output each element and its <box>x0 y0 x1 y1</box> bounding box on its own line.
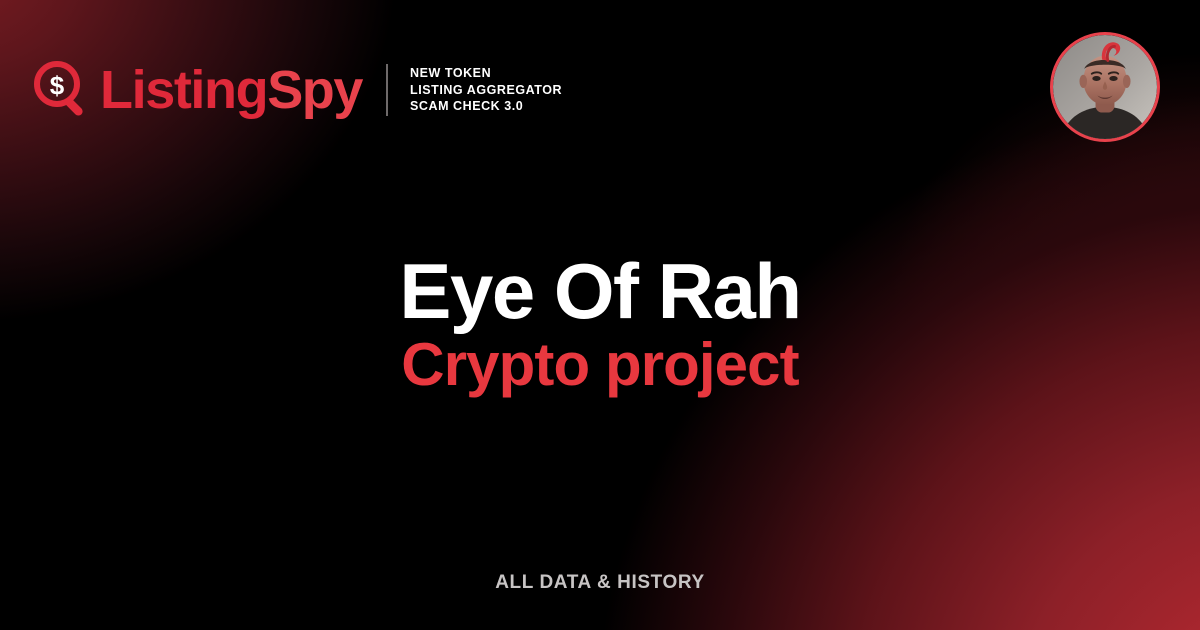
page-subtitle: Crypto project <box>0 330 1200 400</box>
avatar-photo <box>1053 35 1157 139</box>
brand-wordmark: ListingSpy <box>100 63 362 117</box>
svg-text:$: $ <box>50 71 65 101</box>
page-title: Eye Of Rah <box>0 248 1200 334</box>
footer-caption: ALL DATA & HISTORY <box>0 572 1200 594</box>
brand-tagline: NEW TOKEN LISTING AGGREGATOR SCAM CHECK … <box>410 65 562 115</box>
tagline-line-1: NEW TOKEN <box>410 65 562 82</box>
tagline-line-2: LISTING AGGREGATOR <box>410 82 562 99</box>
brand-name-part2: Spy <box>267 60 362 120</box>
tagline-line-3: SCAM CHECK 3.0 <box>410 98 562 115</box>
brand-header[interactable]: $ ListingSpy NEW TOKEN LISTING AGGREGATO… <box>34 52 562 128</box>
social-share-card: $ ListingSpy NEW TOKEN LISTING AGGREGATO… <box>0 0 1200 630</box>
brand-name-part1: Listing <box>100 60 267 120</box>
magnifier-dollar-icon: $ <box>34 61 92 119</box>
header-divider <box>386 64 388 116</box>
avatar[interactable] <box>1050 32 1160 142</box>
hero-title-block: Eye Of Rah Crypto project <box>0 248 1200 400</box>
